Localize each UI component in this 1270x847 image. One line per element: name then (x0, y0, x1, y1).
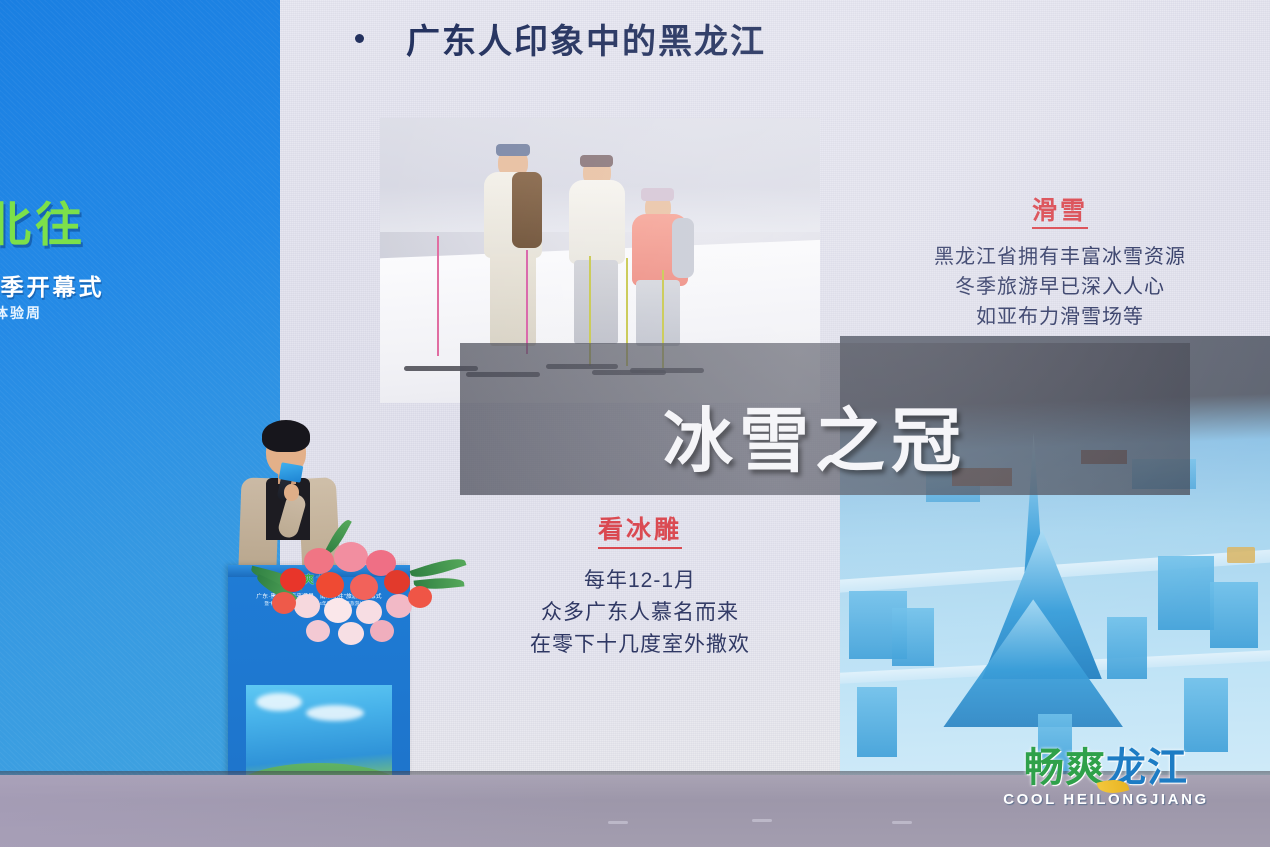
carving-section-title: 看冰雕 (598, 514, 682, 549)
slide-heading-text: 广东人印象中的黑龙江 (406, 14, 766, 63)
brand-logo: 畅爽龙江 COOL HEILONGJIANG (980, 735, 1232, 817)
ski-line-1: 黑龙江省拥有丰富冰雪资源 (860, 242, 1260, 272)
ski-line-2: 冬季旅游早已深入人心 (860, 272, 1260, 302)
banner-subtitle: 往”旅游季开幕式 (0, 268, 105, 302)
brand-logo-green-text: 畅爽 (1024, 746, 1106, 790)
slide-heading: 广东人印象中的黑龙江 (355, 14, 766, 63)
carving-line-3: 在零下十几度室外撒欢 (440, 629, 840, 661)
ski-line-3: 如亚布力滑雪场等 (860, 302, 1260, 332)
banner-headline-green: 北往 (0, 198, 86, 251)
brand-logo-english: COOL HEILONGJIANG (980, 791, 1232, 808)
conference-stage-photo: 广东人印象中的黑龙江 (0, 0, 1270, 847)
banner-headline: 南来北往 (0, 186, 86, 255)
carving-line-1: 每年12-1月 (440, 565, 840, 597)
carving-line-2: 众多广东人慕名而来 (440, 597, 840, 629)
speaker-hand (284, 484, 299, 501)
flower-arrangement (258, 528, 458, 648)
overlay-title: 冰雪之冠 (663, 385, 967, 486)
speaker-hair (262, 420, 310, 452)
microphone-flag (279, 462, 304, 483)
ski-section-title: 滑雪 (1032, 196, 1088, 229)
ski-text-block: 滑雪 黑龙江省拥有丰富冰雪资源 冬季旅游早已深入人心 如亚布力滑雪场等 (860, 196, 1260, 332)
ice-carving-text-block: 看冰雕 每年12-1月 众多广东人慕名而来 在零下十几度室外撒欢 (440, 514, 840, 661)
presentation-screen: 广东人印象中的黑龙江 (280, 0, 1270, 775)
floor-reflection (0, 775, 584, 847)
banner-caption: 消夏旅游体验周 (0, 303, 42, 323)
bullet-icon (355, 34, 364, 43)
